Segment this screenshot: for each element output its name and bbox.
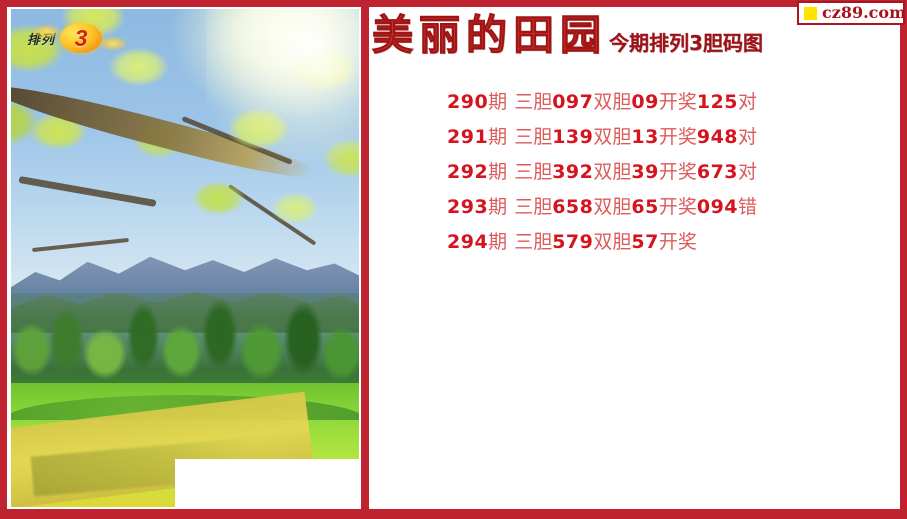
row-period-label: 期 (488, 128, 507, 147)
row-draw-value: 125 (697, 93, 738, 112)
logo-ball-icon: 3 (60, 23, 102, 53)
draw-list: 290期三胆097双胆09开奖125对291期三胆139双胆13开奖948对29… (447, 85, 887, 260)
row-three-dan-label: 三胆 (514, 198, 552, 217)
row-period-number: 294 (447, 233, 488, 252)
draw-row: 294期三胆579双胆57开奖 (447, 225, 887, 260)
draw-row: 291期三胆139双胆13开奖948对 (447, 120, 887, 155)
page-subtitle: 今期排列3胆码图 (609, 33, 763, 56)
row-double-dan-value: 57 (631, 233, 658, 252)
row-draw-value: 948 (697, 128, 738, 147)
row-three-dan-label: 三胆 (514, 233, 552, 252)
site-watermark: cz89.com (797, 1, 905, 25)
row-double-dan-value: 13 (631, 128, 658, 147)
row-three-dan-value: 579 (552, 233, 593, 252)
row-result-label: 错 (738, 198, 757, 217)
row-three-dan-label: 三胆 (514, 128, 552, 147)
row-result-label: 对 (738, 93, 757, 112)
row-period-label: 期 (488, 233, 507, 252)
panel-divider (361, 7, 369, 509)
right-content-panel: 美丽的田园 今期排列3胆码图 290期三胆097双胆09开奖125对291期三胆… (369, 7, 900, 509)
photo-blank-overlay-box (175, 459, 359, 507)
row-period-number: 290 (447, 93, 488, 112)
row-period-label: 期 (488, 198, 507, 217)
row-three-dan-value: 139 (552, 128, 593, 147)
left-photo-panel: 排列 3 (7, 7, 361, 509)
row-double-dan-label: 双胆 (593, 93, 631, 112)
draw-row: 290期三胆097双胆09开奖125对 (447, 85, 887, 120)
row-three-dan-label: 三胆 (514, 163, 552, 182)
logo-ball-number: 3 (75, 27, 88, 50)
logo-swoosh-right-icon (100, 37, 126, 50)
row-draw-value: 094 (697, 198, 738, 217)
row-draw-label: 开奖 (659, 198, 697, 217)
row-double-dan-value: 65 (631, 198, 658, 217)
draw-row: 293期三胆658双胆65开奖094错 (447, 190, 887, 225)
logo-swoosh-left-icon (34, 25, 60, 38)
scenery-photo: 排列 3 (11, 9, 359, 507)
poster-frame: 排列 3 美丽的田园 今期排列3胆码图 290期三胆097双胆09开奖125对2… (0, 0, 907, 519)
row-double-dan-label: 双胆 (593, 233, 631, 252)
row-three-dan-value: 097 (552, 93, 593, 112)
pailie3-logo: 排列 3 (27, 21, 102, 55)
row-period-number: 293 (447, 198, 488, 217)
page-title: 美丽的田园 (372, 15, 607, 56)
row-period-label: 期 (488, 163, 507, 182)
row-double-dan-label: 双胆 (593, 128, 631, 147)
row-draw-label: 开奖 (659, 128, 697, 147)
row-three-dan-label: 三胆 (514, 93, 552, 112)
row-three-dan-value: 658 (552, 198, 593, 217)
row-period-number: 291 (447, 128, 488, 147)
row-double-dan-value: 09 (631, 93, 658, 112)
row-result-label: 对 (738, 128, 757, 147)
row-double-dan-label: 双胆 (593, 163, 631, 182)
row-draw-label: 开奖 (659, 163, 697, 182)
sun-glare (206, 9, 359, 178)
row-three-dan-value: 392 (552, 163, 593, 182)
row-result-label: 对 (738, 163, 757, 182)
row-period-number: 292 (447, 163, 488, 182)
row-draw-value: 673 (697, 163, 738, 182)
row-period-label: 期 (488, 93, 507, 112)
row-draw-label: 开奖 (659, 93, 697, 112)
title-row: 美丽的田园 今期排列3胆码图 (372, 15, 763, 56)
watermark-square-icon (804, 7, 817, 20)
row-double-dan-value: 39 (631, 163, 658, 182)
watermark-site-label: cz89.com (822, 5, 906, 21)
row-double-dan-label: 双胆 (593, 198, 631, 217)
row-draw-label: 开奖 (659, 233, 697, 252)
draw-row: 292期三胆392双胆39开奖673对 (447, 155, 887, 190)
